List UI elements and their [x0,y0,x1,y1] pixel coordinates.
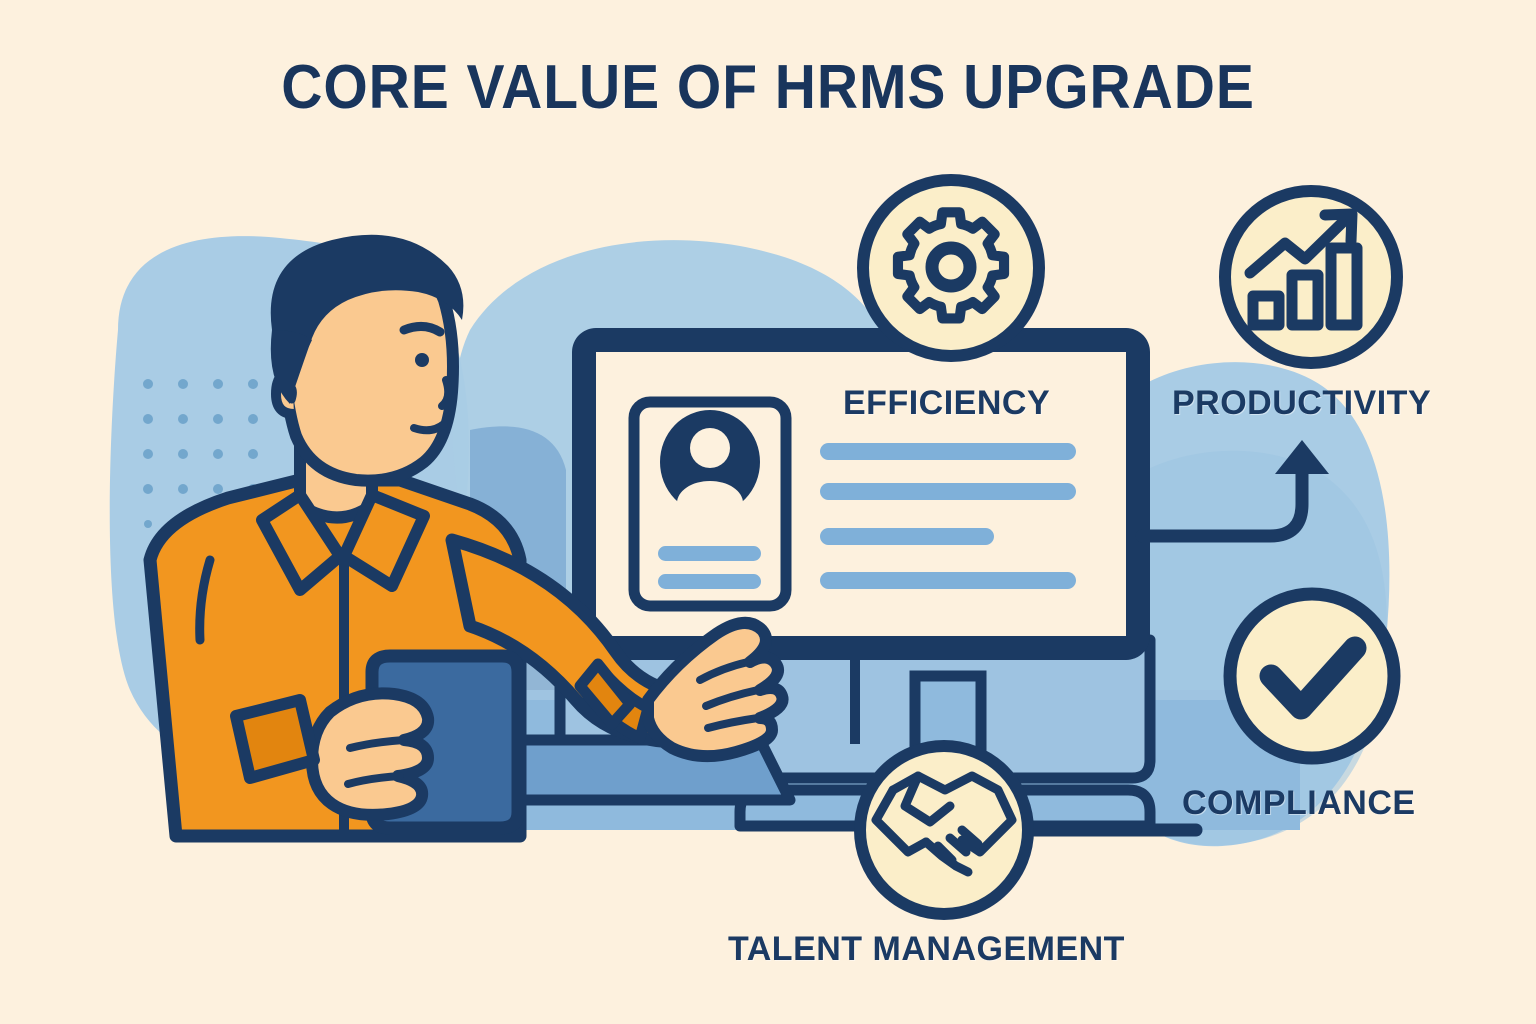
screen-text-line [820,483,1076,500]
employee-profile-card [634,402,786,606]
screen-text-line [820,528,994,545]
scene-illustration [0,0,1536,1024]
growth-chart-icon [1225,191,1397,363]
pillar-label-compliance: COMPLIANCE [1182,784,1416,823]
handshake-icon [860,746,1028,914]
pillar-label-efficiency: EFFICIENCY [843,384,1050,423]
page-title: CORE VALUE OF HRMS UPGRADE [61,52,1474,123]
pillar-label-productivity: PRODUCTIVITY [1172,384,1431,423]
profile-detail-line [658,546,761,561]
gear-icon [863,180,1039,356]
screen-text-line [820,572,1076,589]
screen-text-line [820,443,1076,460]
infographic-canvas: CORE VALUE OF HRMS UPGRADE EFFICIENCY PR… [0,0,1536,1024]
pillar-label-talent-management: TALENT MANAGEMENT [728,930,1125,969]
check-circle-icon [1230,594,1394,758]
profile-detail-line [658,574,761,589]
